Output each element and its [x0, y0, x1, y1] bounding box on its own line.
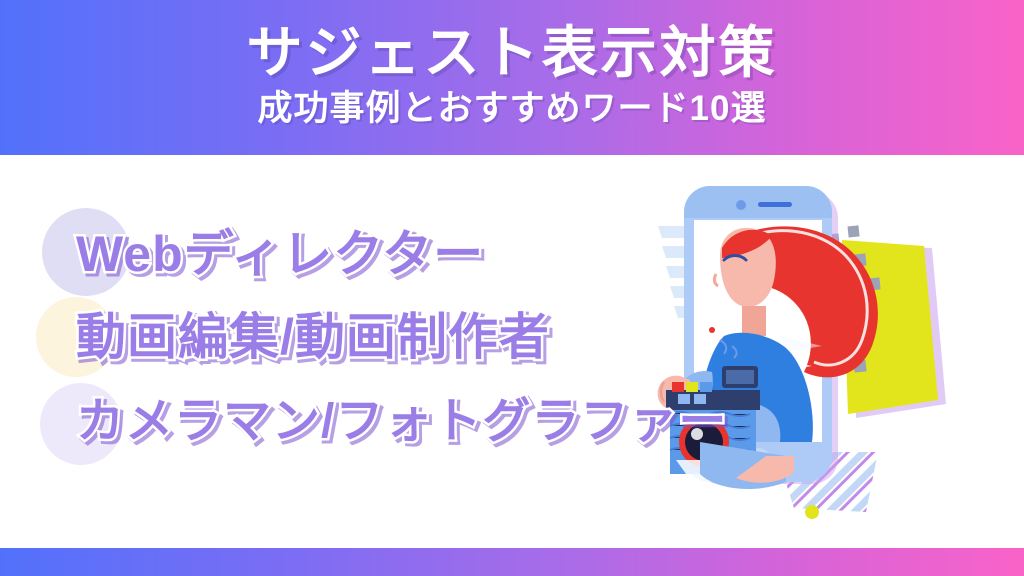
job-list: Webディレクター 動画編集/動画制作者 カメラマン/フォトグラファー	[0, 155, 1024, 548]
page-title: サジェスト表示対策	[247, 24, 778, 81]
slide-canvas: サジェスト表示対策 成功事例とおすすめワード10選	[0, 0, 1024, 576]
list-item-label-2: 動画編集/動画制作者	[76, 288, 550, 378]
list-item: 動画編集/動画制作者	[0, 288, 1024, 378]
list-item: カメラマン/フォトグラファー	[0, 371, 1024, 461]
page-subtitle: 成功事例とおすすめワード10選	[258, 91, 767, 128]
footer-bar	[0, 548, 1024, 576]
list-item-label-1: Webディレクター	[76, 205, 484, 295]
header-banner: サジェスト表示対策 成功事例とおすすめワード10選	[0, 0, 1024, 155]
list-item: Webディレクター	[0, 205, 1024, 295]
list-item-label-3: カメラマン/フォトグラファー	[76, 371, 727, 461]
